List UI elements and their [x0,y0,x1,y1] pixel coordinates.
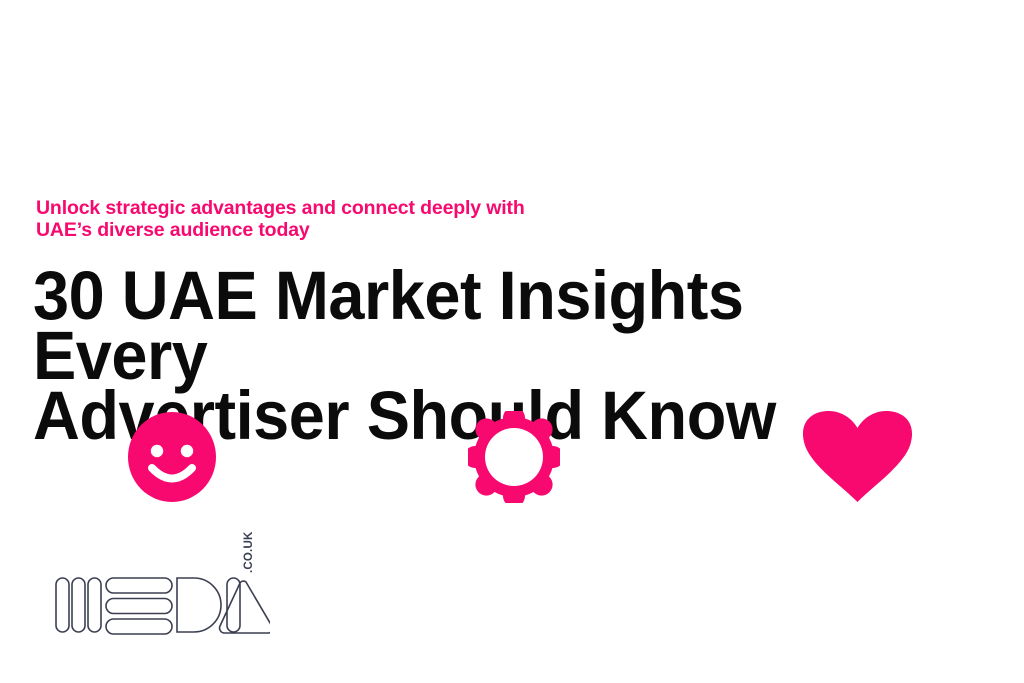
smiley-face-icon [127,411,217,503]
slide-canvas: Unlock strategic advantages and connect … [0,0,1024,683]
kicker-text: Unlock strategic advantages and connect … [36,198,716,241]
decorative-icon-row [0,411,1024,506]
heart-icon [801,411,914,503]
logo-tld-text: .CO.UK [239,511,259,573]
gear-flower-icon [468,411,560,503]
media-co-uk-logo [55,576,270,636]
